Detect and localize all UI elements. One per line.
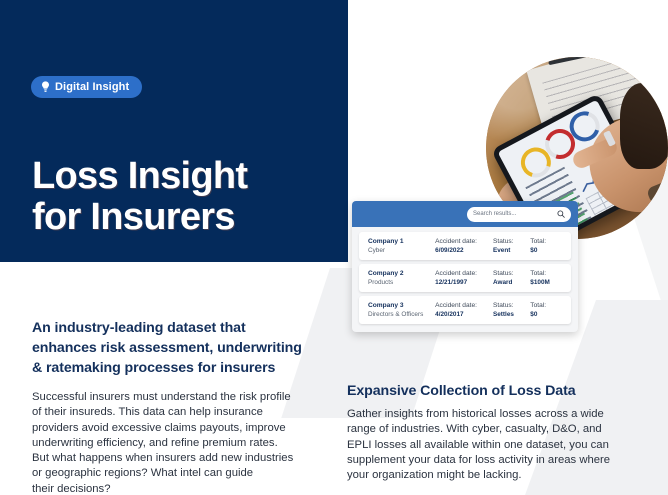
cell-company: Company 1 Cyber xyxy=(368,237,435,255)
right-column: Expansive Collection of Loss Data Gather… xyxy=(347,381,657,483)
accident-date-value: 12/21/1997 xyxy=(435,278,493,287)
brochure-page: Digital Insight Loss Insight for Insurer… xyxy=(0,0,668,495)
left-column: An industry-leading dataset that enhance… xyxy=(32,318,332,495)
total-value: $0 xyxy=(530,310,562,319)
cell-accident-date: Accident date: 12/21/1997 xyxy=(435,269,493,287)
digital-insight-badge: Digital Insight xyxy=(31,76,142,98)
table-row[interactable]: Company 2 Products Accident date: 12/21/… xyxy=(359,264,571,292)
total-label: Total: xyxy=(530,237,562,246)
table-row[interactable]: Company 3 Directors & Officers Accident … xyxy=(359,296,571,324)
search-input[interactable]: Search results... xyxy=(467,207,571,222)
right-paragraph: Gather insights from historical losses a… xyxy=(347,407,657,483)
cell-status: Status: Award xyxy=(493,269,530,287)
accident-date-label: Accident date: xyxy=(435,237,493,246)
card-rows: Company 1 Cyber Accident date: 6/09/2022… xyxy=(352,227,578,332)
status-label: Status: xyxy=(493,301,530,310)
loss-results-card: Search results... Company 1 Cyber Accide… xyxy=(352,201,578,332)
status-value: Event xyxy=(493,246,530,255)
table-row[interactable]: Company 1 Cyber Accident date: 6/09/2022… xyxy=(359,232,571,260)
search-icon[interactable] xyxy=(557,210,565,218)
status-value: Award xyxy=(493,278,530,287)
company-category: Directors & Officers xyxy=(368,310,435,319)
cell-status: Status: Event xyxy=(493,237,530,255)
card-header: Search results... xyxy=(352,201,578,227)
hair xyxy=(620,83,668,169)
cell-company: Company 2 Products xyxy=(368,269,435,287)
company-name: Company 3 xyxy=(368,301,435,310)
company-category: Products xyxy=(368,278,435,287)
status-value: Settles xyxy=(493,310,530,319)
cell-status: Status: Settles xyxy=(493,301,530,319)
left-heading: An industry-leading dataset that enhance… xyxy=(32,318,332,378)
lightbulb-icon xyxy=(41,81,50,93)
accident-date-label: Accident date: xyxy=(435,301,493,310)
search-placeholder: Search results... xyxy=(473,211,516,217)
cell-accident-date: Accident date: 6/09/2022 xyxy=(435,237,493,255)
page-title: Loss Insight for Insurers xyxy=(32,156,247,238)
total-label: Total: xyxy=(530,269,562,278)
total-label: Total: xyxy=(530,301,562,310)
total-value: $100M xyxy=(530,278,562,287)
status-label: Status: xyxy=(493,269,530,278)
accident-date-label: Accident date: xyxy=(435,269,493,278)
cell-total: Total: $0 xyxy=(530,301,562,319)
cell-company: Company 3 Directors & Officers xyxy=(368,301,435,319)
cell-total: Total: $0 xyxy=(530,237,562,255)
cell-accident-date: Accident date: 4/20/2017 xyxy=(435,301,493,319)
cell-total: Total: $100M xyxy=(530,269,562,287)
status-label: Status: xyxy=(493,237,530,246)
total-value: $0 xyxy=(530,246,562,255)
company-name: Company 2 xyxy=(368,269,435,278)
right-heading: Expansive Collection of Loss Data xyxy=(347,381,657,401)
accident-date-value: 6/09/2022 xyxy=(435,246,493,255)
left-paragraph: Successful insurers must understand the … xyxy=(32,390,332,495)
accident-date-value: 4/20/2017 xyxy=(435,310,493,319)
company-category: Cyber xyxy=(368,246,435,255)
company-name: Company 1 xyxy=(368,237,435,246)
badge-label: Digital Insight xyxy=(55,81,129,93)
